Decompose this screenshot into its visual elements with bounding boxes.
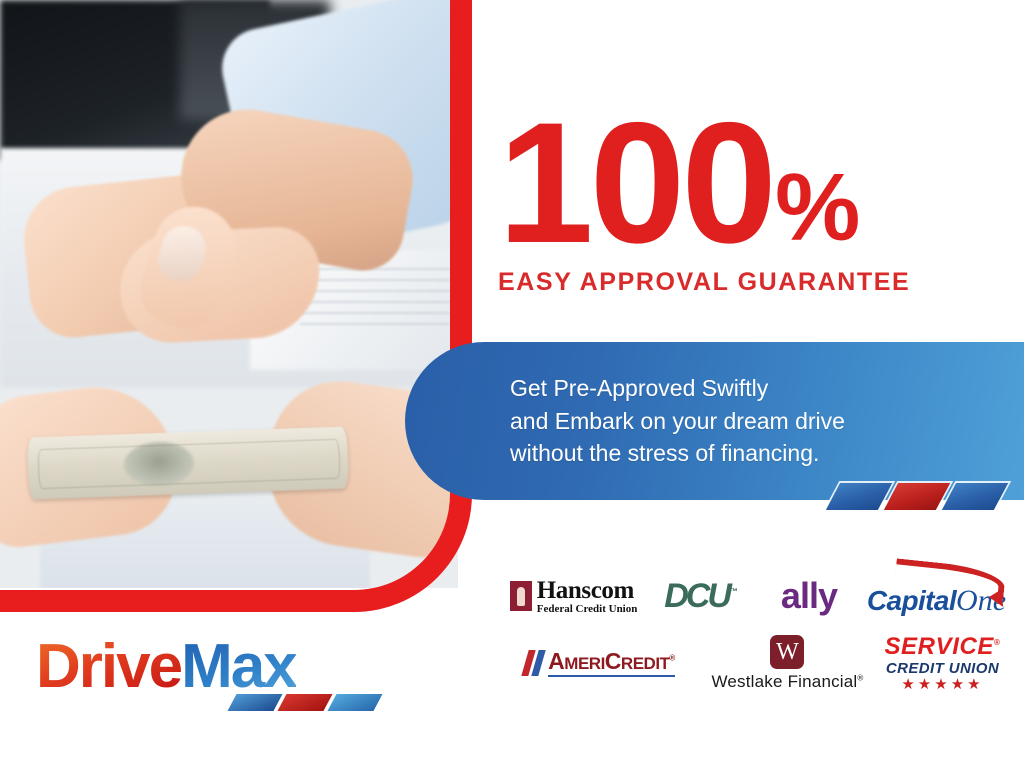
westlake-name: Westlake Financial (711, 672, 857, 691)
chevron-blue-right-icon (942, 483, 1008, 510)
servicecu-stars-icon: ★★★★★ (884, 677, 1000, 692)
lender-row-2: AMERICREDIT® W Westlake Financial® SERVI… (500, 626, 1010, 700)
americredit-c: C (605, 648, 621, 674)
hanscom-name: Hanscom (537, 578, 638, 603)
americredit-meri: MERI (564, 654, 605, 673)
hanscom-emblem-icon (510, 581, 532, 611)
dcu-name: DCU (664, 577, 729, 615)
lender-service-credit-union[interactable]: SERVICE® CREDIT UNION ★★★★★ (875, 635, 1010, 692)
headline-subtitle: EASY APPROVAL GUARANTEE (498, 268, 918, 297)
photo-document-lines (300, 268, 450, 358)
lender-row-1: Hanscom Federal Credit Union DCU™ ally C… (500, 568, 1010, 624)
headline-percent-symbol: % (775, 160, 856, 256)
lender-ally[interactable]: ally (755, 578, 863, 614)
hanscom-tagline: Federal Credit Union (537, 604, 638, 615)
lender-hanscom[interactable]: Hanscom Federal Credit Union (500, 578, 647, 615)
americredit-slash-icon (521, 650, 545, 676)
americredit-redit: REDIT (621, 654, 670, 673)
servicecu-name: SERVICE (884, 633, 994, 660)
lender-logos: Hanscom Federal Credit Union DCU™ ally C… (500, 568, 1010, 700)
ad-banner: 100 % EASY APPROVAL GUARANTEE Get Pre-Ap… (0, 0, 1024, 768)
logo-text-max: Max (181, 632, 296, 701)
logo-chevron-blue-1-icon (227, 694, 282, 711)
promo-line-3: without the stress of financing. (510, 437, 845, 470)
logo-chevron-group (232, 694, 378, 711)
westlake-reg: ® (857, 673, 863, 682)
ally-name: ally (781, 578, 837, 614)
promo-line-2: and Embark on your dream drive (510, 405, 845, 438)
headline-number: 100 (498, 104, 773, 262)
lender-dcu[interactable]: DCU™ (647, 577, 755, 616)
chevron-accent-group (833, 483, 1001, 510)
logo-chevron-blue-2-icon (327, 694, 382, 711)
westlake-monogram-icon: W (770, 635, 804, 669)
lender-americredit[interactable]: AMERICREDIT® (500, 650, 700, 677)
americredit-a: A (548, 648, 564, 674)
promo-banner-text: Get Pre-Approved Swiftly and Embark on y… (510, 372, 845, 470)
chevron-red-icon (884, 483, 950, 510)
promo-banner: Get Pre-Approved Swiftly and Embark on y… (405, 342, 1024, 500)
logo-text-drive: Drive (36, 632, 181, 701)
lender-westlake[interactable]: W Westlake Financial® (700, 635, 875, 692)
servicecu-reg: ® (994, 638, 1001, 647)
lender-capital-one[interactable]: CapitalOne (863, 576, 1010, 616)
headline-block: 100 % EASY APPROVAL GUARANTEE (498, 104, 918, 297)
servicecu-subtitle: CREDIT UNION (884, 661, 1000, 676)
hero-photo (0, 0, 458, 588)
drivemax-wordmark: DriveMax (36, 636, 296, 698)
logo-chevron-red-icon (277, 694, 332, 711)
promo-line-1: Get Pre-Approved Swiftly (510, 372, 845, 405)
photo-dollar-bill (27, 426, 349, 499)
americredit-reg: ® (669, 653, 674, 662)
drivemax-logo[interactable]: DriveMax (36, 636, 296, 698)
chevron-blue-left-icon (826, 483, 892, 510)
americredit-underline (548, 675, 675, 677)
headline-number-row: 100 % (498, 104, 918, 262)
dcu-tm: ™ (729, 586, 738, 596)
